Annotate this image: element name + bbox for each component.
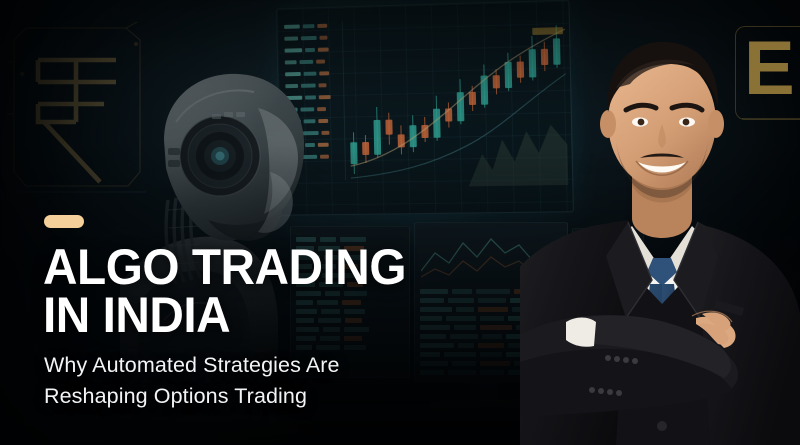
page-title: ALGO TRADING IN INDIA <box>43 243 492 339</box>
page-subtitle: Why Automated Strategies Are Reshaping O… <box>44 350 424 412</box>
algo-trading-banner: E <box>0 0 800 445</box>
businessman-photo <box>520 18 800 445</box>
accent-pill <box>44 215 84 228</box>
